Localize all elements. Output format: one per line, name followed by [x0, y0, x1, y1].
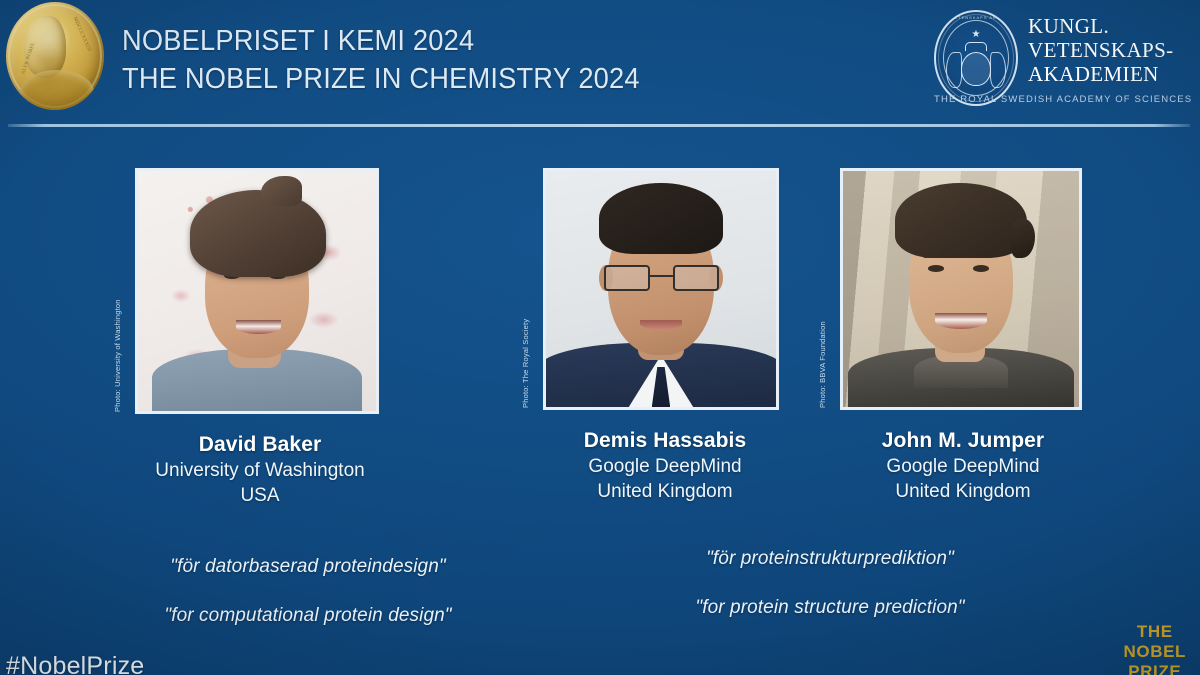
laureate-country: United Kingdom	[818, 479, 1108, 504]
academy-line-3: AKADEMIEN	[1028, 62, 1174, 86]
academy-line-1: KUNGL.	[1028, 14, 1174, 38]
laureate-affiliation: University of Washington	[110, 458, 410, 483]
nobel-prize-watermark: THE NOBEL PRIZE	[1124, 622, 1187, 675]
watermark-line-3: PRIZE	[1124, 662, 1187, 675]
laureate-photo	[840, 168, 1082, 410]
photo-credit: Photo: The Royal Society	[521, 319, 530, 408]
laureate-card-david-baker: Photo: University of Washington David Ba…	[110, 168, 410, 508]
laureate-info: John M. Jumper Google DeepMind United Ki…	[818, 428, 1108, 504]
header-divider	[8, 124, 1190, 127]
photo-credit: Photo: BBVA Foundation	[818, 321, 827, 408]
watermark-line-2: NOBEL	[1124, 642, 1187, 662]
title-swedish: NOBELPRISET I KEMI 2024	[122, 22, 640, 60]
watermark-line-1: THE	[1124, 622, 1187, 642]
academy-line-2: VETENSKAPS-	[1028, 38, 1174, 62]
academy-name: KUNGL. VETENSKAPS- AKADEMIEN	[1028, 14, 1174, 86]
citation-swedish-left: "för datorbaserad proteindesign"	[88, 556, 528, 578]
laureate-country: United Kingdom	[520, 479, 810, 504]
nobel-medal-icon: ALFR NOBEL MDCCCXXXIII	[6, 2, 104, 110]
title-english: THE NOBEL PRIZE IN CHEMISTRY 2024	[122, 60, 640, 98]
hashtag-nobelprize: #NobelPrize	[6, 652, 144, 675]
royal-academy-logo: KUNGL VETENSKAPS AKADEMIEN ★ KUNGL. VETE…	[932, 6, 1178, 114]
laureate-photo	[135, 168, 379, 414]
laureate-name: John M. Jumper	[818, 428, 1108, 454]
royal-academy-seal-icon: KUNGL VETENSKAPS AKADEMIEN ★	[934, 10, 1018, 106]
laureate-info: Demis Hassabis Google DeepMind United Ki…	[520, 428, 810, 504]
laureate-name: Demis Hassabis	[520, 428, 810, 454]
laureate-affiliation: Google DeepMind	[520, 454, 810, 479]
citation-english-left: "for computational protein design"	[88, 605, 528, 627]
laureate-card-john-m-jumper: Photo: BBVA Foundation John M. Jumper Go…	[818, 168, 1108, 504]
laureate-info: David Baker University of Washington USA	[110, 432, 410, 508]
laureate-name: David Baker	[110, 432, 410, 458]
header: ALFR NOBEL MDCCCXXXIII NOBELPRISET I KEM…	[0, 0, 1200, 126]
citation-swedish-right: "för proteinstrukturprediktion"	[630, 548, 1030, 570]
laureate-card-demis-hassabis: Photo: The Royal Society Demis Hassabis …	[520, 168, 810, 504]
page-title: NOBELPRISET I KEMI 2024 THE NOBEL PRIZE …	[122, 22, 673, 98]
nobel-prize-announcement-slide: ALFR NOBEL MDCCCXXXIII NOBELPRISET I KEM…	[0, 0, 1200, 675]
laureate-photo	[543, 168, 779, 410]
photo-credit: Photo: University of Washington	[113, 299, 122, 412]
laureate-affiliation: Google DeepMind	[818, 454, 1108, 479]
academy-subtitle: THE ROYAL SWEDISH ACADEMY OF SCIENCES	[934, 94, 1192, 105]
citation-english-right: "for protein structure prediction"	[630, 597, 1030, 619]
laureate-country: USA	[110, 483, 410, 508]
